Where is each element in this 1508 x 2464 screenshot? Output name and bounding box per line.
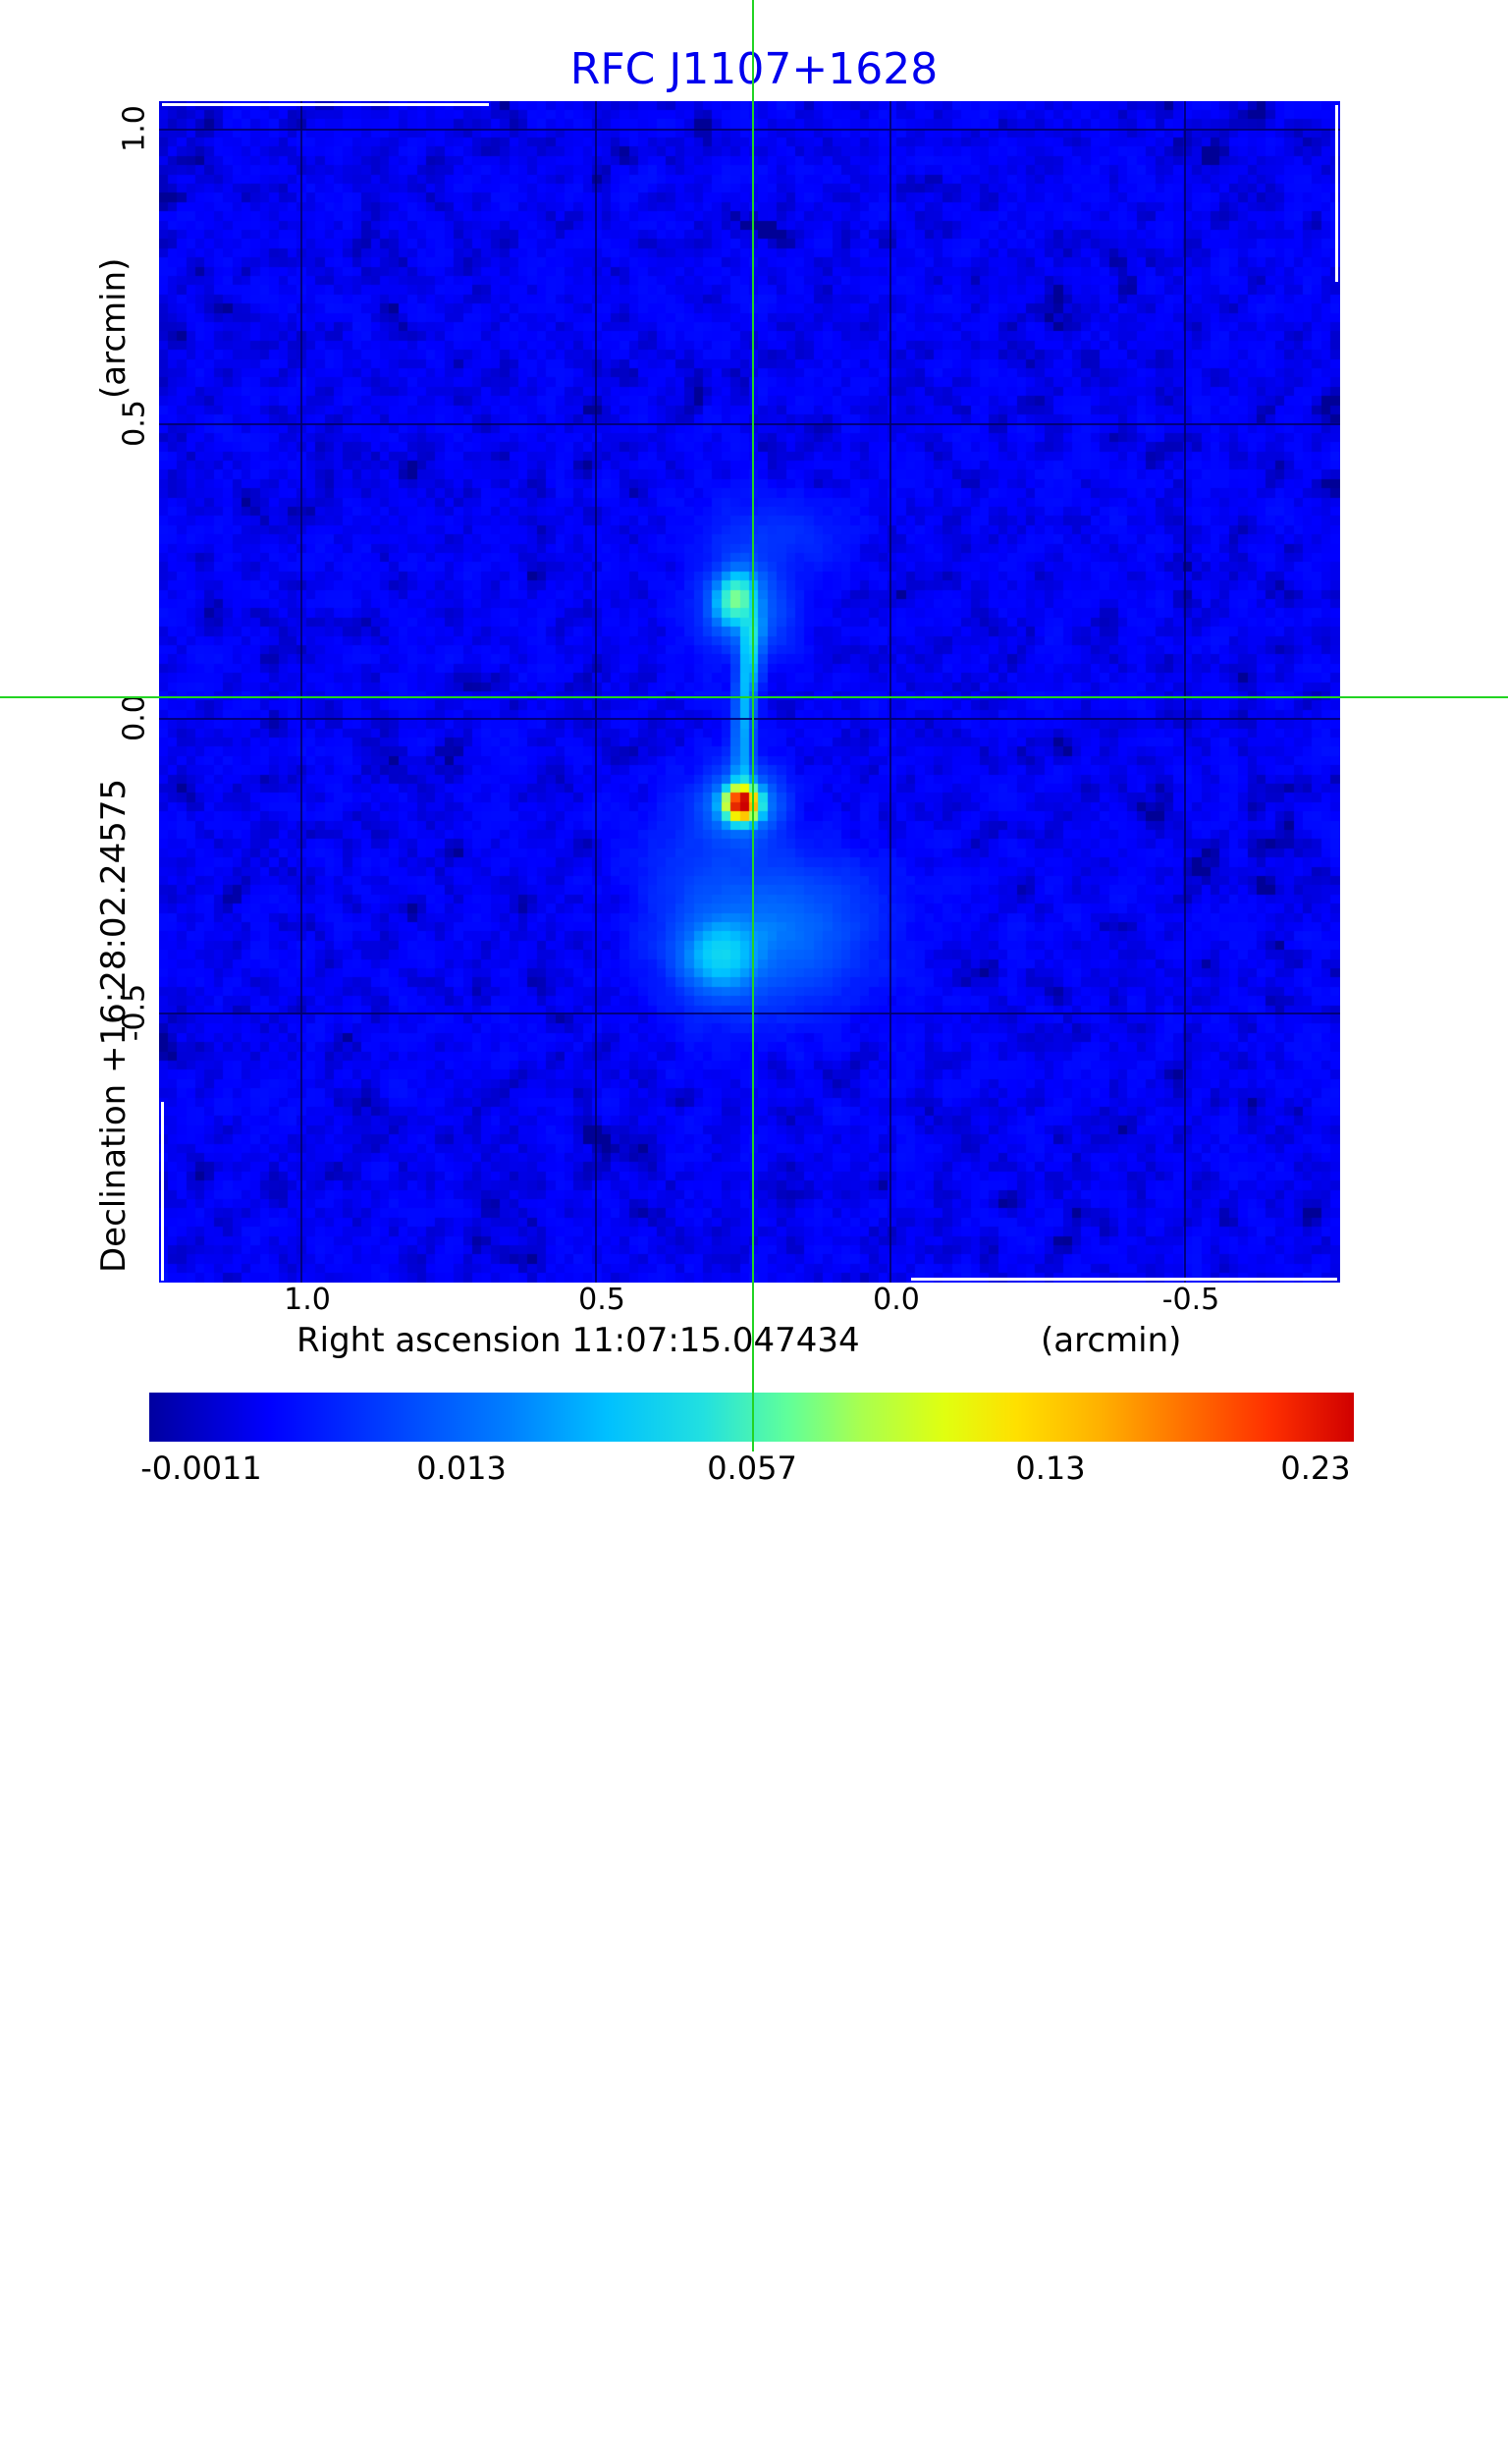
frame-segment-right-top [1335, 105, 1338, 282]
colorbar-tick-0: -0.0011 [140, 1450, 262, 1487]
gridline-x--0.5 [1184, 101, 1186, 1283]
colorbar-tick-4: 0.23 [1280, 1450, 1350, 1487]
gridline-x-0.0 [889, 101, 891, 1283]
colorbar-tick-3: 0.13 [1015, 1450, 1085, 1487]
page-title: RFC J1107+1628 [0, 44, 1508, 94]
xtick-label-2: 0.0 [873, 1283, 920, 1317]
gridline-y-1.0 [159, 129, 1340, 131]
gridline-x-1.0 [300, 101, 302, 1283]
xtick-label-1: 0.5 [578, 1283, 625, 1317]
y-axis-unit: (arcmin) [94, 258, 134, 399]
gridline-x-0.5 [595, 101, 597, 1283]
crosshair-vertical-line [752, 0, 754, 1451]
colorbar-tick-1: 0.013 [416, 1450, 507, 1487]
radio-map-canvas[interactable] [159, 101, 1340, 1283]
y-axis-label-text: Declination +16:28:02.24575 [94, 779, 134, 1273]
xtick-label-3: -0.5 [1162, 1283, 1220, 1317]
y-axis-label: Declination +16:28:02.24575 (arcmin) [94, 101, 139, 1283]
gridline-y-0.0 [159, 718, 1340, 720]
gridline-y--0.5 [159, 1013, 1340, 1014]
radio-image-figure: RFC J1107+1628 1.0 0.5 0.0 -0.5 Right as… [0, 0, 1508, 1484]
sky-image-panel[interactable] [159, 101, 1340, 1283]
x-axis-unit: (arcmin) [1041, 1321, 1181, 1360]
colorbar-tick-2: 0.057 [707, 1450, 797, 1487]
frame-segment-bottom-right [911, 1278, 1337, 1281]
frame-segment-top-left [162, 103, 489, 106]
gridline-y-0.5 [159, 423, 1340, 425]
y-axis-label-wrapper: Declination +16:28:02.24575 (arcmin) [94, 1283, 139, 2464]
xtick-label-0: 1.0 [284, 1283, 331, 1317]
crosshair-horizontal-line [0, 696, 1508, 698]
frame-segment-left-bottom [161, 1102, 164, 1281]
x-axis-label-text: Right ascension 11:07:15.047434 [296, 1321, 860, 1360]
